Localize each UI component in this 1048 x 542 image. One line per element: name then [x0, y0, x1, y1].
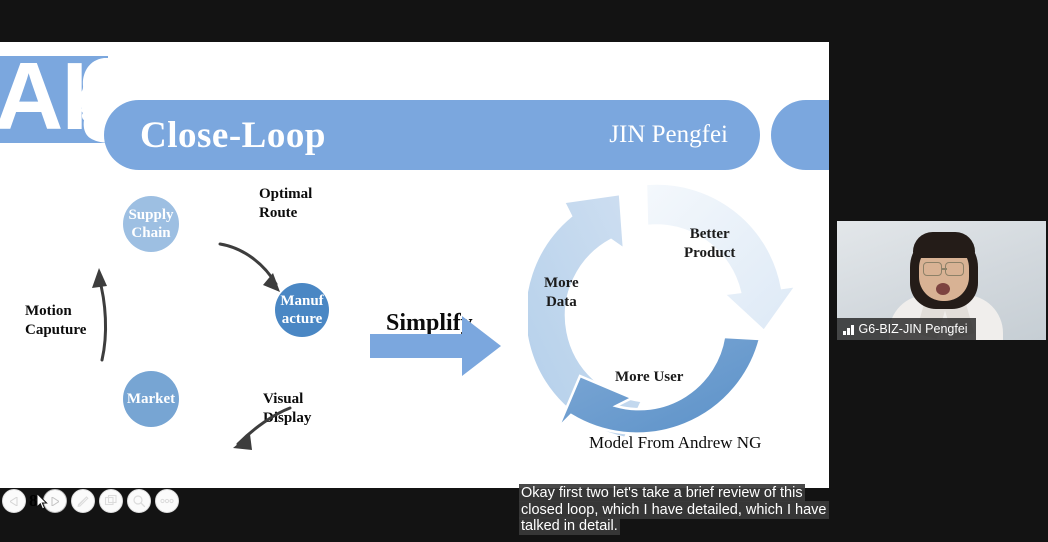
slide-title-bar-accent	[771, 100, 829, 170]
node-supply-chain: Supply Chain	[123, 196, 179, 252]
person-hair-fringe	[913, 232, 975, 258]
label-motion-capture: Motion Caputure	[25, 302, 86, 340]
slide-presenter-name: JIN Pengfei	[609, 121, 728, 149]
slide-title-bar: Close-Loop JIN Pengfei	[104, 100, 760, 170]
zoom-magnifier-icon[interactable]	[127, 489, 151, 513]
slide-title: Close-Loop	[140, 114, 326, 157]
cycle-label-more-user-line1: More User	[615, 368, 683, 387]
participant-video-tile[interactable]: G6-BIZ-JIN Pengfei	[837, 221, 1046, 340]
cycle-label-better-product-line2: Product	[684, 244, 735, 263]
face-profile-icon	[74, 58, 108, 143]
shared-slide-content: AI Close-Loop JIN Pengfei Supply Chain M…	[0, 42, 829, 488]
cycle-caption: Model From Andrew NG	[589, 433, 761, 453]
cycle-label-more-data: More Data	[544, 274, 579, 312]
label-optimal-route-line1: Optimal	[259, 185, 312, 204]
zoom-meeting-window: AI Close-Loop JIN Pengfei Supply Chain M…	[0, 0, 1048, 542]
cycle-label-more-data-line1: More	[544, 274, 579, 293]
label-motion-capture-line2: Caputure	[25, 321, 86, 340]
person-glasses-bridge	[941, 268, 947, 270]
more-options-icon[interactable]	[155, 489, 179, 513]
caption-line-1: Okay first two let's take a brief review…	[519, 484, 805, 502]
node-supply-chain-line2: Chain	[131, 224, 170, 242]
arrow-supply-to-manufacture-icon	[218, 240, 290, 298]
caption-line-3: talked in detail.	[519, 517, 620, 535]
page-number: 8	[29, 491, 38, 511]
node-market-line1: Market	[127, 390, 175, 408]
ai-logo: AI	[0, 56, 108, 143]
person-glasses-left	[923, 262, 942, 276]
slide-control-toolbar[interactable]: 8	[2, 487, 179, 515]
node-supply-chain-line1: Supply	[128, 206, 173, 224]
participant-name-text: G6-BIZ-JIN Pengfei	[859, 322, 968, 336]
simplify-arrow-icon	[370, 298, 502, 382]
annotate-pen-icon[interactable]	[71, 489, 95, 513]
cycle-label-more-data-line2: Data	[544, 293, 579, 312]
person-mouth	[936, 283, 950, 295]
node-manufacture-line2: acture	[282, 310, 323, 328]
cycle-label-better-product: Better Product	[684, 225, 735, 263]
prev-slide-icon[interactable]	[2, 489, 26, 513]
arrow-manufacture-to-market-icon	[232, 406, 294, 454]
label-optimal-route-line2: Route	[259, 204, 312, 223]
signal-bars-icon	[843, 324, 854, 335]
person-glasses-right	[945, 262, 964, 276]
duplicate-window-icon[interactable]	[99, 489, 123, 513]
node-market: Market	[123, 371, 179, 427]
caption-line-2: closed loop, which I have detailed, whic…	[519, 501, 829, 519]
participant-name-badge: G6-BIZ-JIN Pengfei	[837, 318, 976, 340]
cycle-label-more-user: More User	[615, 368, 683, 387]
label-optimal-route: Optimal Route	[259, 185, 312, 223]
label-motion-capture-line1: Motion	[25, 302, 86, 321]
next-slide-icon[interactable]	[43, 489, 67, 513]
arrow-market-to-supply-icon	[86, 268, 112, 364]
live-caption-box: Okay first two let's take a brief review…	[519, 485, 849, 535]
top-black-bar	[0, 0, 1048, 42]
cycle-label-better-product-line1: Better	[684, 225, 735, 244]
